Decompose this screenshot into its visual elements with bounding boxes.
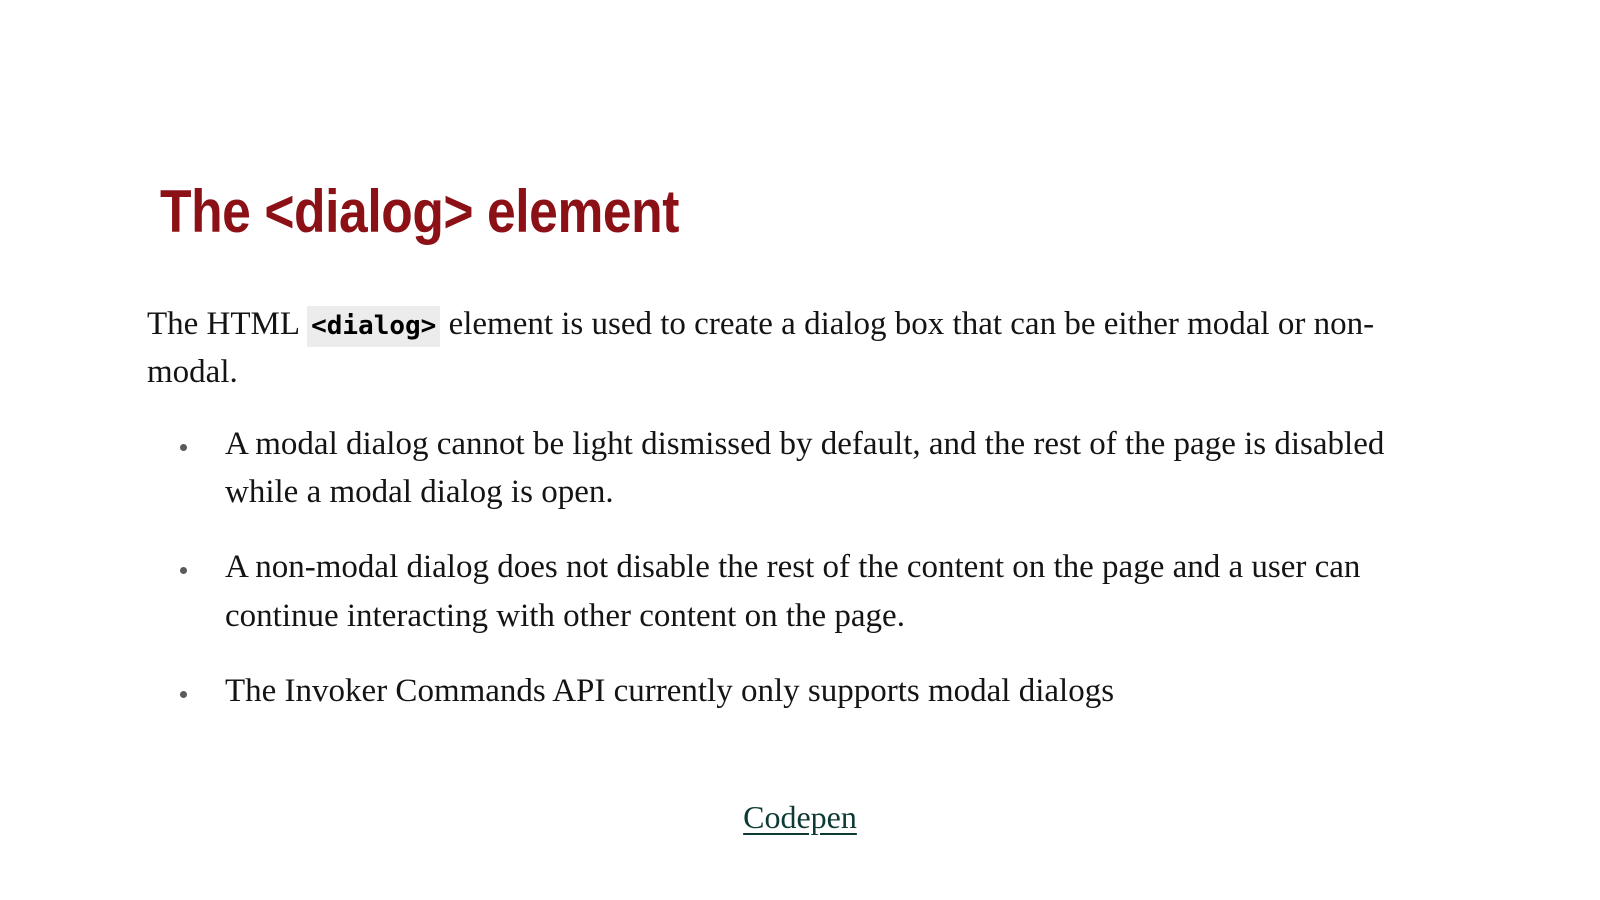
page-title: The <dialog> element bbox=[160, 178, 679, 245]
list-item-label: A non-modal dialog does not disable the … bbox=[225, 549, 1360, 633]
list-item-label: The Invoker Commands API currently only … bbox=[225, 673, 1114, 709]
list-item-label: A modal dialog cannot be light dismissed… bbox=[225, 426, 1384, 510]
slide-canvas: The <dialog> element The HTML <dialog> e… bbox=[0, 0, 1600, 900]
list-item: A modal dialog cannot be light dismissed… bbox=[147, 420, 1447, 516]
bullet-dot-icon bbox=[180, 444, 187, 451]
bullet-dot-icon bbox=[180, 567, 187, 574]
inline-code-dialog: <dialog> bbox=[307, 306, 440, 347]
bullet-dot-icon bbox=[180, 691, 187, 698]
bullet-list: A modal dialog cannot be light dismissed… bbox=[147, 420, 1447, 715]
list-item: A non-modal dialog does not disable the … bbox=[147, 543, 1447, 639]
list-item: The Invoker Commands API currently only … bbox=[147, 667, 1447, 715]
footer-link-container: Codepen bbox=[0, 795, 1600, 840]
codepen-link[interactable]: Codepen bbox=[743, 799, 857, 835]
intro-text-before-code: The HTML bbox=[147, 306, 307, 342]
intro-paragraph: The HTML <dialog> element is used to cre… bbox=[147, 300, 1437, 396]
